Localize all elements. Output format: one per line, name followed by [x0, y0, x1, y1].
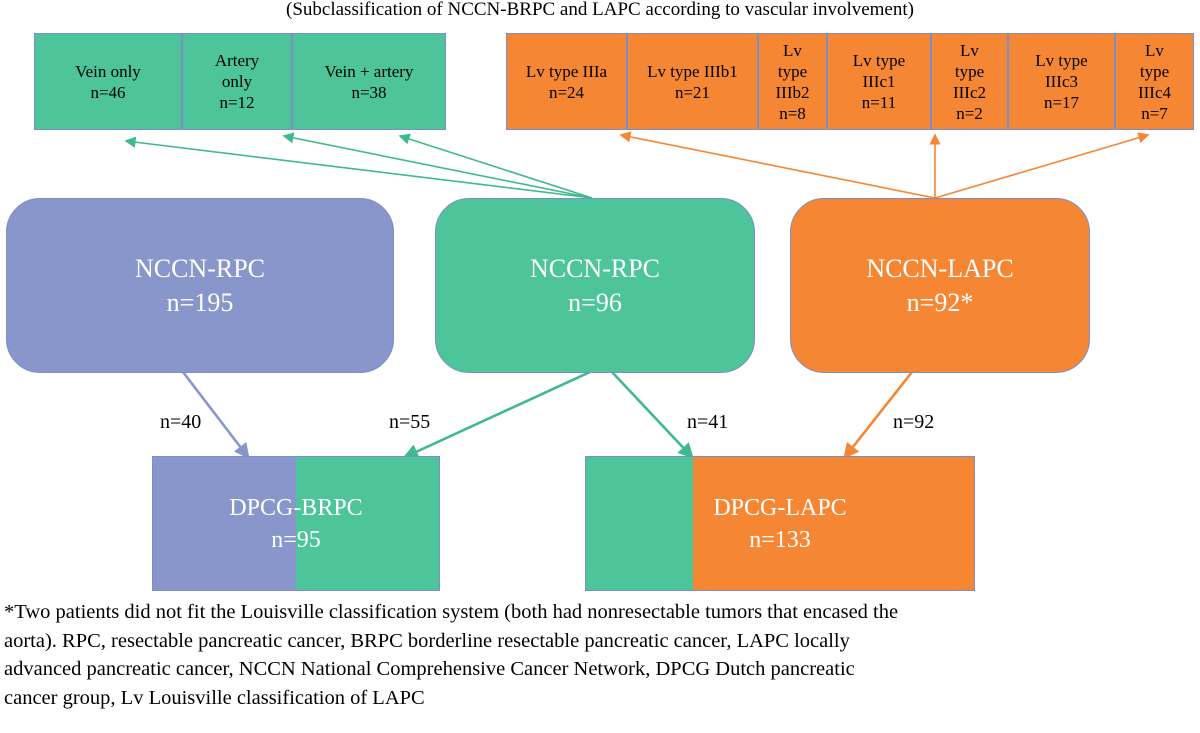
- louisville-cell-count: n=2: [956, 103, 983, 124]
- arrow-to-vein-plus-artery: [400, 136, 592, 198]
- arrow-to-lv-IIIc4: [935, 135, 1148, 198]
- footnote-line-4: cancer group, Lv Louisville classificati…: [4, 684, 1196, 713]
- node-count: n=195: [167, 286, 234, 320]
- louisville-cell-count: n=11: [862, 92, 896, 113]
- louisville-cell-IIIa[interactable]: Lv type IIIa n=24: [506, 33, 627, 130]
- dpcg-brpc-green-portion: [296, 457, 439, 590]
- node-label: NCCN-RPC: [135, 252, 265, 286]
- louisville-cell-label: Lv type IIIc4: [1130, 40, 1180, 103]
- vascular-cell-label: Vein only: [75, 61, 141, 82]
- louisville-cell-count: n=24: [549, 82, 584, 103]
- dpcg-lapc-green-portion: [586, 457, 693, 590]
- arrow-to-lv-IIIa: [621, 135, 935, 198]
- arrow-brpc-to-vascular-group: [126, 136, 592, 198]
- dpcg-brpc-blue-portion: [153, 457, 296, 590]
- louisville-cell-label: Lv type IIIa: [526, 61, 607, 82]
- outcome-dpcg-lapc[interactable]: DPCG-LAPC n=133: [585, 456, 975, 591]
- louisville-cell-IIIb1[interactable]: Lv type IIIb1 n=21: [627, 33, 758, 130]
- louisville-cell-count: n=21: [675, 82, 710, 103]
- vascular-cell-count: n=12: [219, 92, 254, 113]
- edge-label-brpc-to-lapc: n=41: [687, 410, 728, 434]
- flowchart-diagram: (Subclassification of NCCN-BRPC and LAPC…: [0, 0, 1200, 733]
- arrow-lapc-to-louisville-group: [621, 135, 1148, 198]
- louisville-cell-IIIc2[interactable]: Lv type IIIc2 n=2: [931, 33, 1008, 130]
- vascular-subclassification-strip: Vein only n=46 Artery only n=12 Vein + a…: [34, 33, 446, 130]
- vascular-cell-artery-only[interactable]: Artery only n=12: [182, 33, 292, 130]
- edge-label-rpc-to-brpc: n=40: [160, 410, 201, 434]
- louisville-cell-label: Lv type IIIb2: [770, 40, 816, 103]
- vascular-cell-label: Vein + artery: [325, 61, 414, 82]
- louisville-cell-label: Lv type IIIc3: [1023, 50, 1101, 92]
- louisville-cell-count: n=17: [1044, 92, 1079, 113]
- louisville-cell-count: n=7: [1141, 103, 1168, 124]
- louisville-subclassification-strip: Lv type IIIa n=24 Lv type IIIb1 n=21 Lv …: [506, 33, 1194, 130]
- dpcg-lapc-orange-portion: [693, 457, 974, 590]
- louisville-cell-label: Lv type IIIc2: [946, 40, 994, 103]
- vascular-cell-label: Artery only: [201, 50, 273, 92]
- footnote-line-1: *Two patients did not fit the Louisville…: [4, 598, 1196, 627]
- outcome-dpcg-brpc[interactable]: DPCG-BRPC n=95: [152, 456, 440, 591]
- diagram-caption: (Subclassification of NCCN-BRPC and LAPC…: [0, 0, 1200, 22]
- louisville-cell-IIIb2[interactable]: Lv type IIIb2 n=8: [758, 33, 827, 130]
- node-count: n=92*: [907, 286, 974, 320]
- louisville-cell-count: n=8: [779, 103, 806, 124]
- node-count: n=96: [568, 286, 622, 320]
- edge-label-brpc-to-brpc: n=55: [389, 410, 430, 434]
- node-nccn-rpc[interactable]: NCCN-RPC n=195: [6, 198, 394, 373]
- vascular-cell-vein-only[interactable]: Vein only n=46: [34, 33, 182, 130]
- node-label: NCCN-RPC: [530, 252, 660, 286]
- footnote-block: *Two patients did not fit the Louisville…: [4, 598, 1196, 712]
- edge-label-lapc-to-lapc: n=92: [893, 410, 934, 434]
- node-nccn-lapc[interactable]: NCCN-LAPC n=92*: [790, 198, 1090, 373]
- vascular-cell-count: n=46: [90, 82, 125, 103]
- louisville-cell-IIIc3[interactable]: Lv type IIIc3 n=17: [1008, 33, 1115, 130]
- vascular-cell-count: n=38: [351, 82, 386, 103]
- louisville-cell-IIIc1[interactable]: Lv type IIIc1 n=11: [827, 33, 931, 130]
- arrow-to-artery-only: [284, 136, 592, 198]
- footnote-line-3: advanced pancreatic cancer, NCCN Nationa…: [4, 655, 1196, 684]
- footnote-line-2: aorta). RPC, resectable pancreatic cance…: [4, 627, 1196, 656]
- louisville-cell-IIIc4[interactable]: Lv type IIIc4 n=7: [1115, 33, 1194, 130]
- arrow-brpc-to-dpcg-brpc: [405, 372, 590, 457]
- node-label: NCCN-LAPC: [866, 252, 1013, 286]
- arrow-brpc-to-dpcg-lapc: [612, 372, 692, 457]
- vascular-cell-vein-plus-artery[interactable]: Vein + artery n=38: [292, 33, 446, 130]
- node-nccn-brpc[interactable]: NCCN-RPC n=96: [435, 198, 755, 373]
- louisville-cell-label: Lv type IIIc1: [841, 50, 917, 92]
- louisville-cell-label: Lv type IIIb1: [647, 61, 738, 82]
- arrow-to-vein-only: [126, 141, 592, 198]
